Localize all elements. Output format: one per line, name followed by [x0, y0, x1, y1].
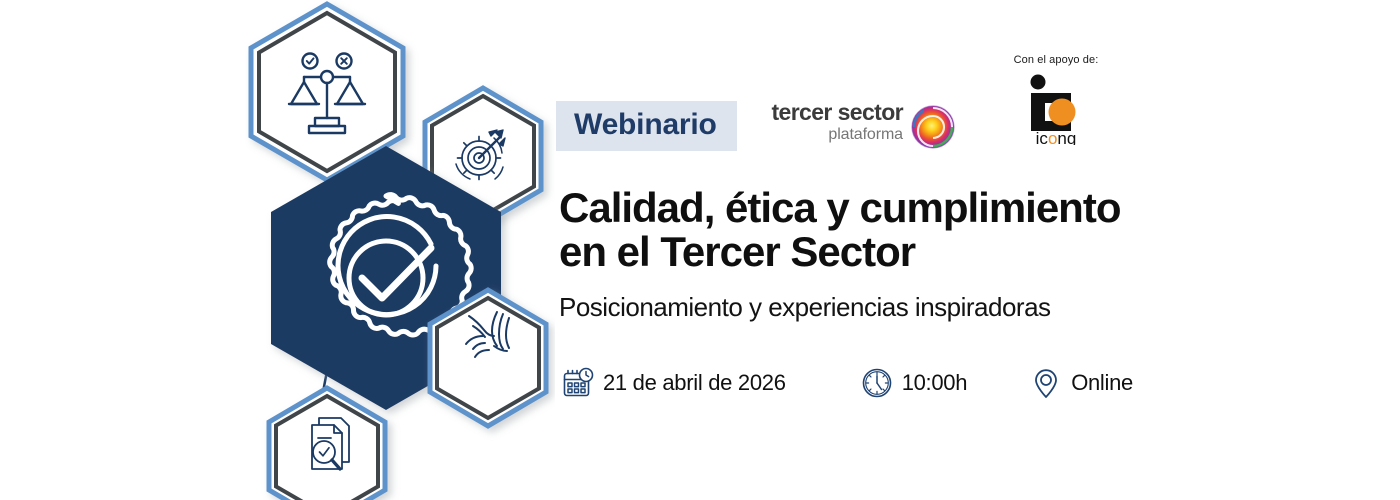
meta-time-label: 10:00h — [902, 370, 968, 396]
webinario-badge: Webinario — [556, 101, 737, 151]
logo-row: Webinario tercer sector plataforma — [556, 55, 1400, 170]
tercer-sector-plataforma-logo: tercer sector plataforma — [760, 100, 960, 162]
page-title: Calidad, ética y cumplimiento en el Terc… — [559, 186, 1259, 273]
support-label: Con el apoyo de: — [981, 55, 1131, 66]
meta-location-label: Online — [1071, 370, 1133, 396]
document-magnifier-check-icon — [312, 418, 349, 469]
tercer-sector-wordmark: tercer sector plataforma — [760, 100, 903, 143]
title-line-2: en el Tercer Sector — [559, 230, 1259, 274]
webinar-banner: Webinario tercer sector plataforma — [0, 0, 1400, 500]
clock-icon — [858, 362, 896, 404]
rainbow-spiral-icon — [908, 102, 958, 157]
hexagon-cluster — [245, 0, 555, 500]
support-block: Con el apoyo de: icong — [981, 55, 1131, 150]
svg-text:icong: icong — [1036, 129, 1077, 145]
tercer-sector-line2: plataforma — [760, 126, 903, 144]
meta-item-time: 10:00h — [858, 360, 968, 406]
title-line-1: Calidad, ética y cumplimiento — [559, 186, 1259, 230]
meta-item-location: Online — [1027, 360, 1133, 406]
meta-item-date: 21 de abril de 2026 — [559, 360, 786, 406]
location-pin-icon — [1027, 362, 1065, 404]
meta-date-label: 21 de abril de 2026 — [603, 370, 786, 396]
tercer-sector-line1: tercer sector — [760, 100, 903, 125]
event-meta-row: 21 de abril de 2026 — [559, 358, 1133, 408]
content-column: Webinario tercer sector plataforma — [556, 0, 1400, 500]
page-subtitle: Posicionamiento y experiencias inspirado… — [559, 292, 1259, 323]
calendar-clock-icon — [559, 362, 597, 404]
icong-logo: icong — [981, 73, 1131, 150]
